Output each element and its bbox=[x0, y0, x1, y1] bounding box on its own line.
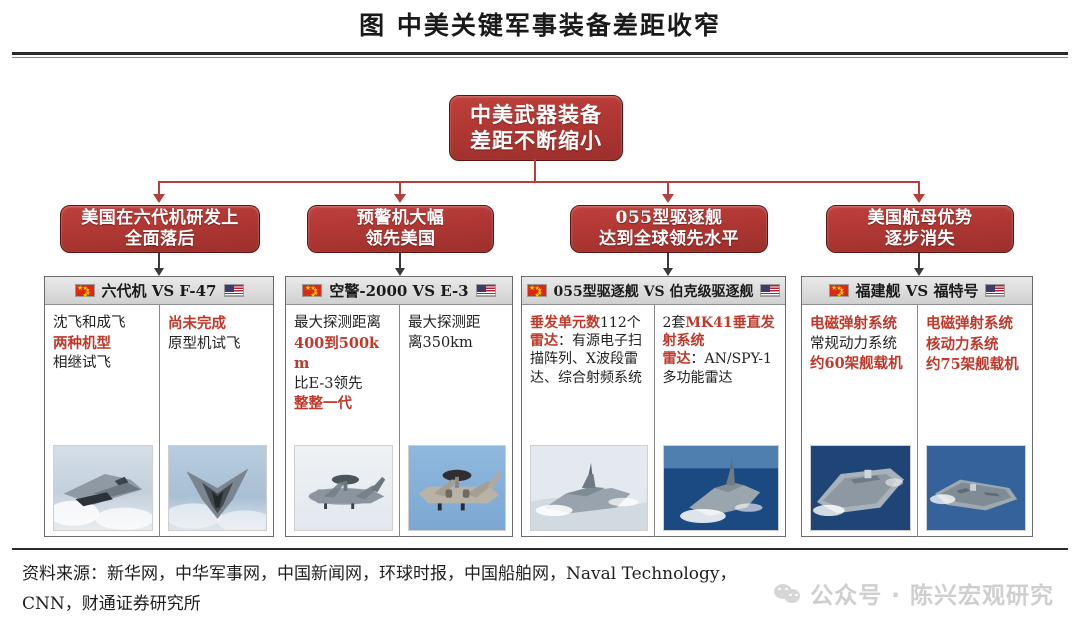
panel-0-left-seg3: 相继试飞 bbox=[53, 355, 111, 371]
arrow-branch-0-icon bbox=[153, 194, 165, 203]
fujian-carrier-photo bbox=[810, 445, 911, 531]
panel-1-right-column: 最大探测距 离350km bbox=[399, 305, 512, 537]
panel-2-right-column: 2套MK41垂直发射系统 雷达：AN/SPY-1 多功能雷达 bbox=[654, 305, 786, 537]
connector-panel-2 bbox=[667, 251, 669, 268]
panel-0-right-seg1: 尚未完成 bbox=[168, 315, 226, 332]
branch-box-1-line2: 领先美国 bbox=[366, 229, 436, 250]
root-node-line1: 中美武器装备 bbox=[470, 102, 602, 128]
title-divider-thin bbox=[12, 57, 1068, 58]
branch-box-3: 美国航母优势 逐步消失 bbox=[826, 205, 1014, 253]
page-title: 图 中美关键军事装备差距收窄 bbox=[359, 11, 721, 40]
panel-3-header: ★★★★★ 福建舰 VS 福特号 bbox=[802, 277, 1032, 305]
arleigh-burke-destroyer-photo bbox=[663, 445, 780, 531]
panel-3-left-seg1: 电磁弹射系统 bbox=[810, 315, 897, 332]
wechat-logo-icon bbox=[774, 582, 801, 605]
arrow-branch-3-icon bbox=[913, 194, 925, 203]
watermark: 公众号 · 陈兴宏观研究 bbox=[774, 576, 1054, 610]
comparison-panel-carrier: ★★★★★ 福建舰 VS 福特号 电磁弹射系统 常规动力系统 约60架舰载机 bbox=[801, 276, 1033, 537]
panel-2-header: ★★★★★ 055型驱逐舰 VS 伯克级驱逐舰 bbox=[522, 277, 785, 305]
chinese-sixth-gen-fighter-photo bbox=[53, 445, 153, 531]
panel-2-right-seg3: 雷达 bbox=[663, 351, 691, 367]
connector-panel-3 bbox=[918, 251, 920, 268]
figure-root: 图 中美关键军事装备差距收窄 中美武器装备 差距不断缩小 美国在六代机研发上 全… bbox=[0, 0, 1080, 642]
china-flag-icon: ★★★★★ bbox=[829, 284, 849, 297]
panel-2-left-seg3: 雷达 bbox=[530, 333, 558, 349]
branch-box-2: 055型驱逐舰 达到全球领先水平 bbox=[570, 205, 768, 253]
panel-0-left-seg1: 沈飞和成飞 bbox=[53, 315, 126, 331]
panel-1-left-seg3: 比E-3领先 bbox=[294, 376, 362, 392]
connector-branch-0 bbox=[158, 181, 160, 195]
comparison-panel-awacs: ★★★★★ 空警-2000 VS E-3 最大探测距离 400到500km 比E… bbox=[285, 276, 513, 537]
branch-box-0-line2: 全面落后 bbox=[125, 229, 195, 250]
usa-flag-icon bbox=[760, 284, 780, 297]
panel-2-right-seg1: 2套 bbox=[663, 315, 686, 331]
panel-2-right-text: 2套MK41垂直发射系统 雷达：AN/SPY-1 多功能雷达 bbox=[663, 314, 780, 387]
panel-0-left-column: 沈飞和成飞 两种机型 相继试飞 bbox=[45, 305, 159, 537]
panel-0-right-text: 尚未完成 原型机试飞 bbox=[168, 314, 267, 354]
panel-1-header: ★★★★★ 空警-2000 VS E-3 bbox=[286, 277, 512, 305]
comparison-panel-fighter: ★★★★★ 六代机 VS F-47 沈飞和成飞 两种机型 相继试飞 bbox=[44, 276, 274, 537]
connector-root-down bbox=[534, 159, 536, 182]
usa-flag-icon bbox=[224, 284, 244, 297]
panel-1-left-seg1: 最大探测距离 bbox=[294, 315, 381, 331]
arrow-panel-0-icon bbox=[154, 268, 164, 276]
panel-3-right-seg3: 约75架舰载机 bbox=[926, 356, 1019, 373]
connector-branch-2 bbox=[667, 181, 669, 195]
usa-flag-icon bbox=[985, 284, 1005, 297]
branch-box-2-line1: 055型驱逐舰 bbox=[616, 208, 723, 229]
usa-flag-icon bbox=[476, 284, 496, 297]
panel-0-right-seg2: 原型机试飞 bbox=[168, 336, 241, 352]
type055-destroyer-photo bbox=[530, 445, 648, 531]
arrow-branch-2-icon bbox=[662, 194, 674, 203]
panel-2-left-seg1: 垂发单元数 bbox=[530, 315, 600, 331]
arrow-panel-2-icon bbox=[663, 268, 673, 276]
panel-3-title: 福建舰 VS 福特号 bbox=[856, 280, 979, 301]
panel-2-left-text: 垂发单元数112个 雷达：有源电子扫描阵列、X波段雷达、综合射频系统 bbox=[530, 314, 648, 387]
panel-3-columns: 电磁弹射系统 常规动力系统 约60架舰载机 bbox=[802, 305, 1032, 537]
panel-0-right-column: 尚未完成 原型机试飞 bbox=[159, 305, 273, 537]
connector-panel-0 bbox=[158, 251, 160, 268]
panel-1-left-column: 最大探测距离 400到500km 比E-3领先 整整一代 bbox=[286, 305, 399, 537]
root-node-line2: 差距不断缩小 bbox=[470, 128, 602, 154]
panel-3-left-column: 电磁弹射系统 常规动力系统 约60架舰载机 bbox=[802, 305, 917, 537]
panel-2-left-seg2: 112个 bbox=[600, 315, 641, 331]
panel-2-left-column: 垂发单元数112个 雷达：有源电子扫描阵列、X波段雷达、综合射频系统 bbox=[522, 305, 654, 537]
connector-bus bbox=[159, 181, 919, 183]
kj2000-awacs-photo bbox=[294, 445, 393, 531]
comparison-panel-destroyer: ★★★★★ 055型驱逐舰 VS 伯克级驱逐舰 垂发单元数112个 雷达：有源电… bbox=[521, 276, 786, 537]
panel-0-left-seg2: 两种机型 bbox=[53, 335, 111, 352]
china-flag-icon: ★★★★★ bbox=[302, 284, 322, 297]
connector-branch-1 bbox=[399, 181, 401, 195]
connector-branch-3 bbox=[918, 181, 920, 195]
panel-3-right-seg2: 核动力系统 bbox=[926, 336, 999, 353]
branch-box-3-line2: 逐步消失 bbox=[885, 229, 955, 250]
panel-2-title: 055型驱逐舰 VS 伯克级驱逐舰 bbox=[554, 281, 754, 301]
panel-0-columns: 沈飞和成飞 两种机型 相继试飞 尚未完成 bbox=[45, 305, 273, 537]
china-flag-icon: ★★★★★ bbox=[527, 284, 547, 297]
panel-1-columns: 最大探测距离 400到500km 比E-3领先 整整一代 bbox=[286, 305, 512, 537]
branch-box-1: 预警机大幅 领先美国 bbox=[307, 205, 494, 253]
panel-3-left-seg3: 约60架舰载机 bbox=[810, 355, 903, 372]
panel-1-right-text: 最大探测距 离350km bbox=[408, 314, 506, 353]
panel-3-right-text: 电磁弹射系统 核动力系统 约75架舰载机 bbox=[926, 314, 1026, 376]
china-flag-icon: ★★★★★ bbox=[75, 284, 95, 297]
panel-3-left-seg2: 常规动力系统 bbox=[810, 336, 897, 352]
panel-1-right-seg1: 最大探测距 bbox=[408, 315, 481, 331]
title-divider bbox=[12, 52, 1068, 55]
arrow-panel-1-icon bbox=[395, 268, 405, 276]
gerald-ford-carrier-photo bbox=[926, 445, 1026, 531]
panel-1-left-seg2: 400到500km bbox=[294, 335, 379, 373]
root-node-box: 中美武器装备 差距不断缩小 bbox=[449, 95, 623, 161]
panel-0-title: 六代机 VS F-47 bbox=[102, 280, 217, 301]
watermark-text: 公众号 · 陈兴宏观研究 bbox=[810, 576, 1054, 610]
panel-3-left-text: 电磁弹射系统 常规动力系统 约60架舰载机 bbox=[810, 314, 911, 375]
e3-sentry-awacs-photo bbox=[408, 445, 506, 531]
figure-title-wrap: 图 中美关键军事装备差距收窄 bbox=[0, 6, 1080, 42]
arrow-panel-3-icon bbox=[914, 268, 924, 276]
branch-box-2-line2: 达到全球领先水平 bbox=[599, 229, 739, 250]
panel-1-title: 空警-2000 VS E-3 bbox=[329, 280, 468, 301]
branch-box-0: 美国在六代机研发上 全面落后 bbox=[60, 205, 260, 253]
panel-0-header: ★★★★★ 六代机 VS F-47 bbox=[45, 277, 273, 305]
panel-2-columns: 垂发单元数112个 雷达：有源电子扫描阵列、X波段雷达、综合射频系统 bbox=[522, 305, 785, 537]
panel-3-right-seg1: 电磁弹射系统 bbox=[926, 315, 1013, 332]
branch-box-3-line1: 美国航母优势 bbox=[868, 208, 973, 229]
panel-3-right-column: 电磁弹射系统 核动力系统 约75架舰载机 bbox=[917, 305, 1032, 537]
panel-1-right-seg2: 离350km bbox=[408, 335, 473, 351]
footer-divider bbox=[12, 548, 1068, 550]
branch-box-1-line1: 预警机大幅 bbox=[357, 208, 445, 229]
panel-1-left-text: 最大探测距离 400到500km 比E-3领先 整整一代 bbox=[294, 314, 393, 415]
branch-box-0-line1: 美国在六代机研发上 bbox=[81, 208, 239, 229]
arrow-branch-1-icon bbox=[394, 194, 406, 203]
panel-1-left-seg4: 整整一代 bbox=[294, 395, 352, 412]
connector-panel-1 bbox=[399, 251, 401, 268]
f47-concept-fighter-photo bbox=[168, 445, 267, 531]
panel-0-left-text: 沈飞和成飞 两种机型 相继试飞 bbox=[53, 314, 153, 374]
